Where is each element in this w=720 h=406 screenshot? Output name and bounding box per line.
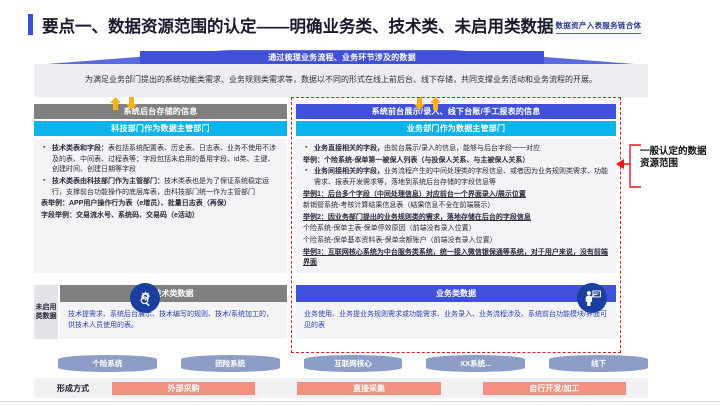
formation-chip[interactable]: 自行开发/加工	[483, 382, 626, 395]
left-header-primary: 系统后台存储的信息	[34, 104, 287, 119]
left-column: 系统后台存储的信息 科技部门作为数据主管部门 技术类表和字段：表包括系统配置表、…	[34, 104, 287, 273]
unstarted-category-tag: 未启用类数据	[34, 285, 58, 339]
right-example-line: 新销管系统-考核计算结果信息表（结果信息不全在前端展示）	[303, 201, 609, 212]
arrow-down-right-icon	[414, 97, 425, 110]
left-example-2: 字段举例：交易流水号、系统码、交易码（e活动）	[41, 211, 280, 222]
technical-category-body: 技术提需求、系统后台展示、技术编写的规则、技术/系统加工的，供技术人员使用的表。	[60, 302, 287, 339]
system-chip-label: 团险系统	[215, 358, 245, 369]
arrow-down-left-icon	[126, 97, 137, 110]
business-category-block: 业务类数据 业务使用、业务提业务规则需求或功能需求、业务录入、业务流程涉及、系统…	[296, 285, 616, 339]
right-header-primary: 系统前台展示/录入、线下台账/手工报表的信息	[296, 104, 616, 119]
annotation-arrow-icon	[616, 143, 642, 189]
formation-chip[interactable]: 外部采购	[112, 382, 255, 395]
left-example-1: 表举例：APP用户操作行为表（e增员）、批量日志表（再保）	[41, 199, 280, 210]
person-presenting-icon	[577, 283, 607, 313]
system-chip[interactable]: 互联网核心	[304, 355, 403, 372]
annotation-label: 一般认定的数据资源范围	[640, 146, 714, 171]
system-chip[interactable]: 个险系统	[58, 355, 157, 372]
technical-category-header: 技术类数据	[60, 285, 287, 302]
title-text: 要点一、数据资源范围的认定——明确业务类、技术类、未启用类数据	[42, 19, 554, 36]
left-body-card: 技术类表和字段：表包括系统配置表、历史表、日志表、业务不使用不涉及的表、中间表、…	[34, 139, 287, 273]
technical-category-block: 技术类数据 技术提需求、系统后台展示、技术编写的规则、技术/系统加工的，供技术人…	[60, 285, 287, 339]
right-example-line: 个险系统-保单基本资料表-保单余额账户（前端没有录入位置）	[303, 236, 609, 247]
system-chip[interactable]: XX系统...	[426, 355, 525, 372]
system-chip-label: 线下	[591, 358, 606, 369]
system-chip-label: 互联网核心	[334, 358, 372, 369]
right-example-line: 个险系统-保单主表-保单停效原因（前端没有录入位置）	[303, 224, 609, 235]
list-item: 技术类表和字段：表包括系统配置表、历史表、日志表、业务不使用不涉及的表、中间表、…	[41, 144, 280, 176]
page-title: 要点一、数据资源范围的认定——明确业务类、技术类、未启用类数据 数据资产入表服务…	[28, 14, 641, 35]
formation-chip-label: 自行开发/加工	[529, 383, 579, 394]
technical-category-text: 技术提需求、系统后台展示、技术编写的规则、技术/系统加工的，供技术人员使用的表。	[68, 310, 279, 331]
formation-row: 形成方式 外部采购 直接采集 自行开发/加工	[34, 378, 648, 398]
slide-canvas: 要点一、数据资源范围的认定——明确业务类、技术类、未启用类数据 数据资产入表服务…	[0, 0, 720, 406]
bullet-strong: 业务直接相关的字段，	[314, 145, 384, 152]
bottom-divider	[0, 401, 720, 402]
system-chip[interactable]: 线下	[549, 355, 648, 372]
right-example-head-1: 举例1：后台多个字段（中间处理信息）对应前台一个界面录入/展示位置	[303, 190, 609, 201]
gear-magnifier-icon	[130, 283, 160, 313]
arrow-up-right-icon	[430, 97, 441, 110]
right-body-card: 业务直接相关的字段，由前台展示/录入的信息，能够与后台字段一一对应 举例：个险系…	[296, 139, 616, 273]
formation-chip[interactable]: 直接采集	[297, 382, 440, 395]
formation-items: 外部采购 直接采集 自行开发/加工	[112, 382, 648, 395]
list-item: 技术类表由科技部门作为主管部门：技术类表也是为了保证系统稳定运行，支撑前台功能操…	[41, 177, 280, 198]
system-chip[interactable]: 团险系统	[181, 355, 280, 372]
bullet-strong: 技术类表和字段：	[52, 145, 108, 152]
left-header-secondary: 科技部门作为数据主管部门	[34, 121, 287, 136]
business-category-header: 业务类数据	[296, 285, 616, 302]
business-category-text: 业务使用、业务提业务规则需求或功能需求、业务录入、业务流程涉及、系统前台功能模块…	[304, 310, 608, 331]
watermark-text: 数据资产入表服务链合体	[556, 20, 642, 31]
right-column: 系统前台展示/录入、线下台账/手工报表的信息 业务部门作为数据主管部门 业务直接…	[296, 104, 616, 273]
bullet-strong: 技术类表由科技部门作为主管部门：	[52, 178, 164, 185]
right-bullet-list-2: 业务间接相关的字段，业务流程产生的中间处理类的字段信息、或者因为业务规则类需求、…	[303, 167, 609, 188]
banner-body: 为满足业务部门提出的系统功能类需求、业务规则类需求等，数据以不同的形式在线上前后…	[34, 64, 648, 97]
watermark-rule	[556, 33, 642, 34]
formation-chip-label: 外部采购	[168, 383, 200, 394]
banner-header: 通过梳理业务流程、业务环节涉及的数据	[140, 51, 544, 64]
right-example-head-3: 举例3：互联网核心系统为中台服务类系统，统一接入微信银保通等系统，对于用户来说，…	[303, 248, 609, 269]
list-item: 业务间接相关的字段，业务流程产生的中间处理类的字段信息、或者因为业务规则类需求、…	[303, 167, 609, 188]
formation-label: 形成方式	[34, 383, 112, 394]
system-chip-label: 个险系统	[92, 358, 122, 369]
title-accent-bar	[28, 14, 33, 35]
right-header-secondary: 业务部门作为数据主管部门	[296, 121, 616, 136]
left-bullet-list: 技术类表和字段：表包括系统配置表、历史表、日志表、业务不使用不涉及的表、中间表、…	[41, 144, 280, 198]
banner-body-text: 为满足业务部门提出的系统功能类需求、业务规则类需求等，数据以不同的形式在线上前后…	[85, 74, 597, 86]
right-example-line-1: 举例：个险系统-保单第一被保人列表（与投保人关系、与主被保人关系）	[303, 156, 609, 167]
business-category-body: 业务使用、业务提业务规则需求或功能需求、业务录入、业务流程涉及、系统前台功能模块…	[296, 302, 616, 339]
banner-header-text: 通过梳理业务流程、业务环节涉及的数据	[268, 52, 416, 63]
right-example-head-2: 举例2：因业务部门提出的业务规则类的需求，落地存储在后台的字段信息	[303, 213, 609, 224]
system-chip-label: XX系统...	[460, 358, 491, 369]
bullet-rest: 由前台展示/录入的信息，能够与后台字段一一对应	[384, 145, 540, 152]
bullet-strong: 业务间接相关的字段，	[314, 168, 384, 175]
formation-chip-label: 直接采集	[353, 383, 385, 394]
right-bullet-list: 业务直接相关的字段，由前台展示/录入的信息，能够与后台字段一一对应	[303, 144, 609, 155]
arrow-up-left-icon	[110, 97, 121, 110]
list-item: 业务直接相关的字段，由前台展示/录入的信息，能够与后台字段一一对应	[303, 144, 609, 155]
system-chip-row: 个险系统 团险系统 互联网核心 XX系统... 线下	[58, 355, 648, 372]
watermark: 数据资产入表服务链合体	[556, 20, 642, 35]
